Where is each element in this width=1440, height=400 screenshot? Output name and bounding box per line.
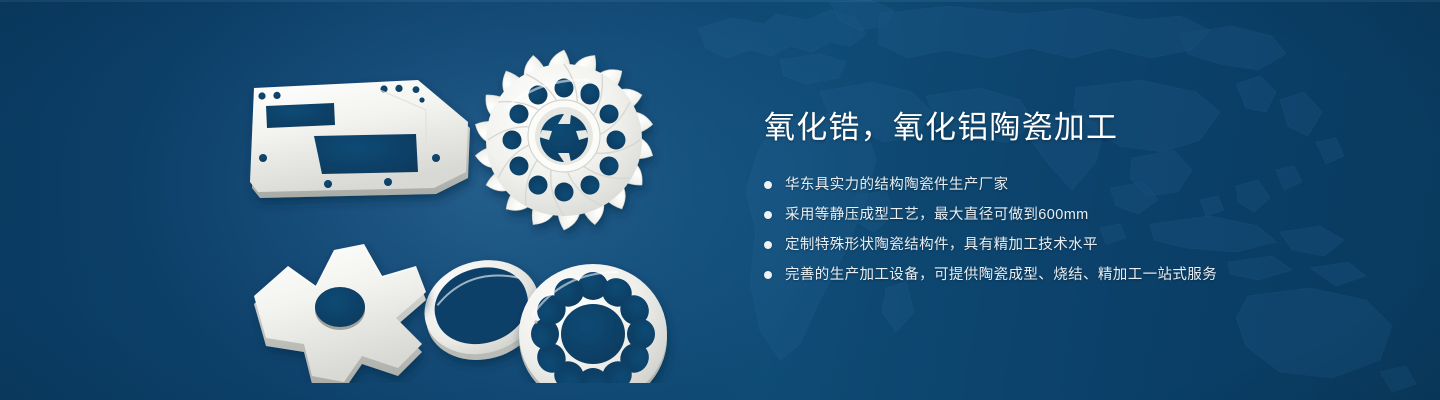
bullet-dot-icon — [764, 211, 772, 219]
feature-text: 定制特殊形状陶瓷结构件，具有精加工技术水平 — [785, 234, 1098, 256]
feature-text: 华东具实力的结构陶瓷件生产厂家 — [785, 174, 1009, 196]
feature-text: 完善的生产加工设备，可提供陶瓷成型、烧结、精加工一站式服务 — [785, 264, 1217, 286]
feature-text: 采用等静压成型工艺，最大直径可做到600mm — [785, 204, 1089, 226]
banner-text-block: 氧化锆，氧化铝陶瓷加工 华东具实力的结构陶瓷件生产厂家 采用等静压成型工艺，最大… — [764, 108, 1324, 294]
ceramic-vaned-impeller — [473, 50, 656, 230]
bullet-dot-icon — [764, 241, 772, 249]
ceramic-cross-plate — [254, 244, 426, 383]
ceramic-perforated-disc — [519, 264, 667, 383]
banner-headline: 氧化锆，氧化铝陶瓷加工 — [764, 108, 1324, 148]
list-item: 定制特殊形状陶瓷结构件，具有精加工技术水平 — [764, 234, 1324, 256]
hero-banner: 氧化锆，氧化铝陶瓷加工 华东具实力的结构陶瓷件生产厂家 采用等静压成型工艺，最大… — [0, 0, 1440, 400]
bullet-dot-icon — [764, 271, 772, 279]
list-item: 采用等静压成型工艺，最大直径可做到600mm — [764, 204, 1324, 226]
product-montage — [230, 38, 720, 383]
feature-list: 华东具实力的结构陶瓷件生产厂家 采用等静压成型工艺，最大直径可做到600mm 定… — [764, 174, 1324, 286]
ceramic-mounting-plate — [250, 80, 470, 198]
bullet-dot-icon — [764, 181, 772, 189]
list-item: 华东具实力的结构陶瓷件生产厂家 — [764, 174, 1324, 196]
list-item: 完善的生产加工设备，可提供陶瓷成型、烧结、精加工一站式服务 — [764, 264, 1324, 286]
